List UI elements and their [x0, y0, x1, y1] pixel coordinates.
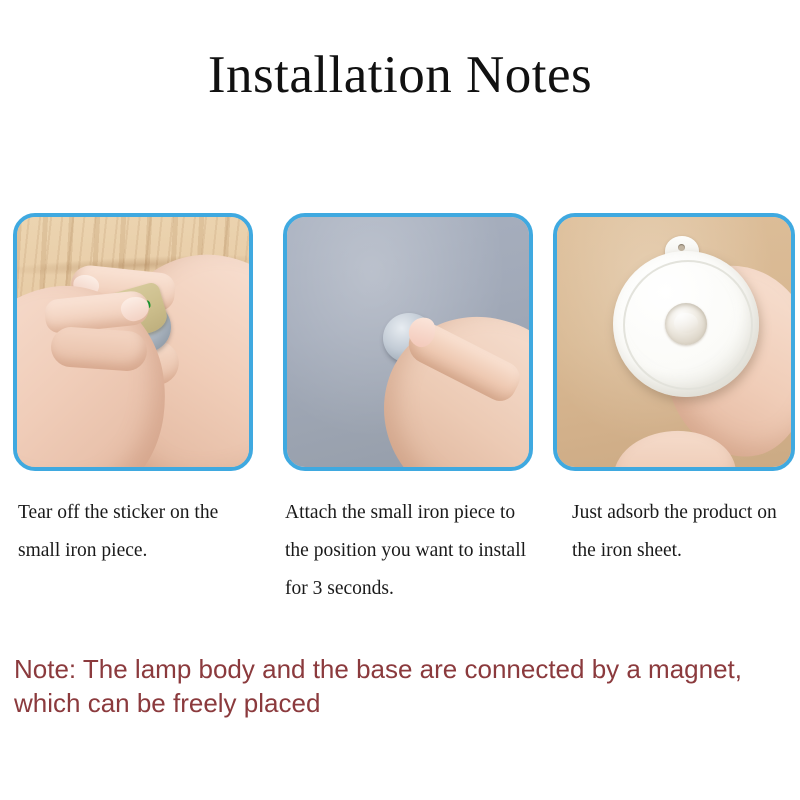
lamp-hanging-hole: [678, 244, 685, 251]
step-caption-3: Just adsorb the product on the iron shee…: [572, 494, 798, 570]
step-photo-panel-1: ME 300: [13, 213, 253, 471]
step-photo-panel-3: [553, 213, 795, 471]
left-thumb: [50, 326, 149, 373]
bottom-note: Note: The lamp body and the base are con…: [14, 652, 774, 720]
step-1-photo: ME 300: [17, 217, 249, 467]
page-title: Installation Notes: [0, 44, 800, 106]
step-3-photo: [557, 217, 791, 467]
step-2-photo: [287, 217, 529, 467]
step-captions: Tear off the sticker on the small iron p…: [0, 494, 800, 634]
step-caption-1: Tear off the sticker on the small iron p…: [18, 494, 250, 570]
step-photo-panel-2: [283, 213, 533, 471]
pir-sensor-lens: [674, 313, 698, 333]
step-caption-2: Attach the small iron piece to the posit…: [285, 494, 537, 608]
steps-panel-row: ME 300: [0, 213, 800, 471]
